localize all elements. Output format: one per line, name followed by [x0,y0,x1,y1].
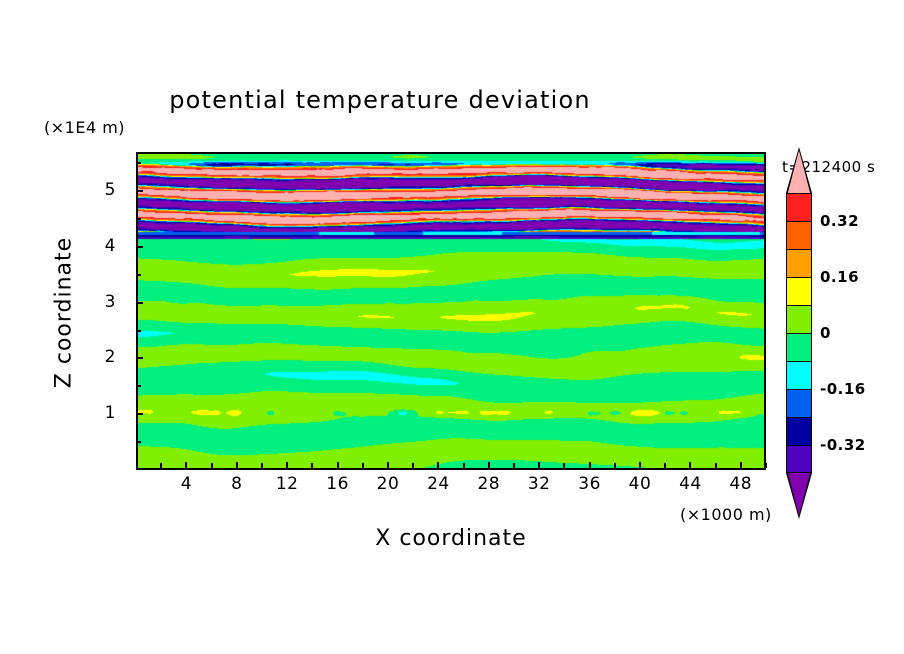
x-axis-label: X coordinate [136,526,766,551]
page-title: potential temperature deviation [0,86,760,114]
colorbar-tick-label: 0.32 [820,212,859,230]
x-axis-minor-tick [614,463,616,468]
figure-root: potential temperature deviation (×1E4 m)… [0,0,904,654]
x-axis-tick [236,462,238,469]
x-axis-tick [639,462,641,469]
x-axis-tick-label: 28 [469,474,509,494]
x-axis-minor-tick [664,463,666,468]
y-axis-minor-tick [136,218,141,220]
x-axis-tick [185,462,187,469]
x-axis-tick [740,462,742,469]
x-axis-tick-label: 16 [318,474,358,494]
x-axis-tick [286,462,288,469]
y-axis-minor-tick [136,330,141,332]
x-axis-tick [488,462,490,469]
y-axis-tick-label: 1 [86,403,116,423]
x-axis-tick-label: 40 [620,474,660,494]
y-axis-tick [136,190,143,192]
colorbar-band [786,389,812,417]
x-axis-tick-label: 44 [670,474,710,494]
colorbar-tick-label: 0 [820,324,831,342]
x-axis-tick [689,462,691,469]
x-axis-minor-tick [160,463,162,468]
x-axis-tick-label: 12 [267,474,307,494]
y-axis-label: Z coordinate [52,213,77,413]
x-axis-tick [437,462,439,469]
x-axis-minor-tick [362,463,364,468]
x-axis-tick [337,462,339,469]
x-axis-tick-label: 20 [368,474,408,494]
x-axis-tick-label: 24 [418,474,458,494]
y-axis-tick-label: 4 [86,236,116,256]
colorbar-band [786,193,812,221]
z-axis-unit-label: (×1E4 m) [44,118,125,137]
x-axis-minor-tick [513,463,515,468]
x-axis-minor-tick [211,463,213,468]
colorbar [786,193,812,473]
y-axis-tick [136,357,143,359]
x-axis-tick-label: 36 [570,474,610,494]
colorbar-band [786,305,812,333]
colorbar-band [786,249,812,277]
colorbar-band [786,361,812,389]
colorbar-band [786,445,812,473]
colorbar-band [786,333,812,361]
x-axis-minor-tick [412,463,414,468]
x-axis-tick-label: 32 [519,474,559,494]
colorbar-tick-label: -0.32 [820,436,866,454]
x-axis-tick-label: 48 [721,474,761,494]
colorbar-band [786,417,812,445]
x-axis-tick [538,462,540,469]
y-axis-tick-label: 5 [86,180,116,200]
contour-plot-area [136,152,766,470]
y-axis-tick [136,413,143,415]
y-axis-minor-tick [136,441,141,443]
y-axis-tick [136,246,143,248]
x-axis-minor-tick [463,463,465,468]
colorbar-under-cap [788,473,810,516]
colorbar-tick-label: 0.16 [820,268,859,286]
colorbar-band [786,277,812,305]
colorbar-tick-label: -0.16 [820,380,866,398]
x-axis-tick [589,462,591,469]
x-axis-minor-tick [715,463,717,468]
y-axis-minor-tick [136,162,141,164]
y-axis-tick [136,302,143,304]
x-axis-tick-label: 4 [166,474,206,494]
y-axis-tick-label: 2 [86,347,116,367]
x-axis-tick-label: 8 [217,474,257,494]
x-axis-minor-tick [311,463,313,468]
x-axis-unit-label: (×1000 m) [680,505,772,524]
y-axis-minor-tick [136,385,141,387]
y-axis-minor-tick [136,274,141,276]
contour-field-canvas [138,154,764,468]
x-axis-minor-tick [765,463,767,468]
colorbar-band [786,221,812,249]
x-axis-minor-tick [563,463,565,468]
x-axis-tick [387,462,389,469]
x-axis-minor-tick [261,463,263,468]
y-axis-tick-label: 3 [86,292,116,312]
